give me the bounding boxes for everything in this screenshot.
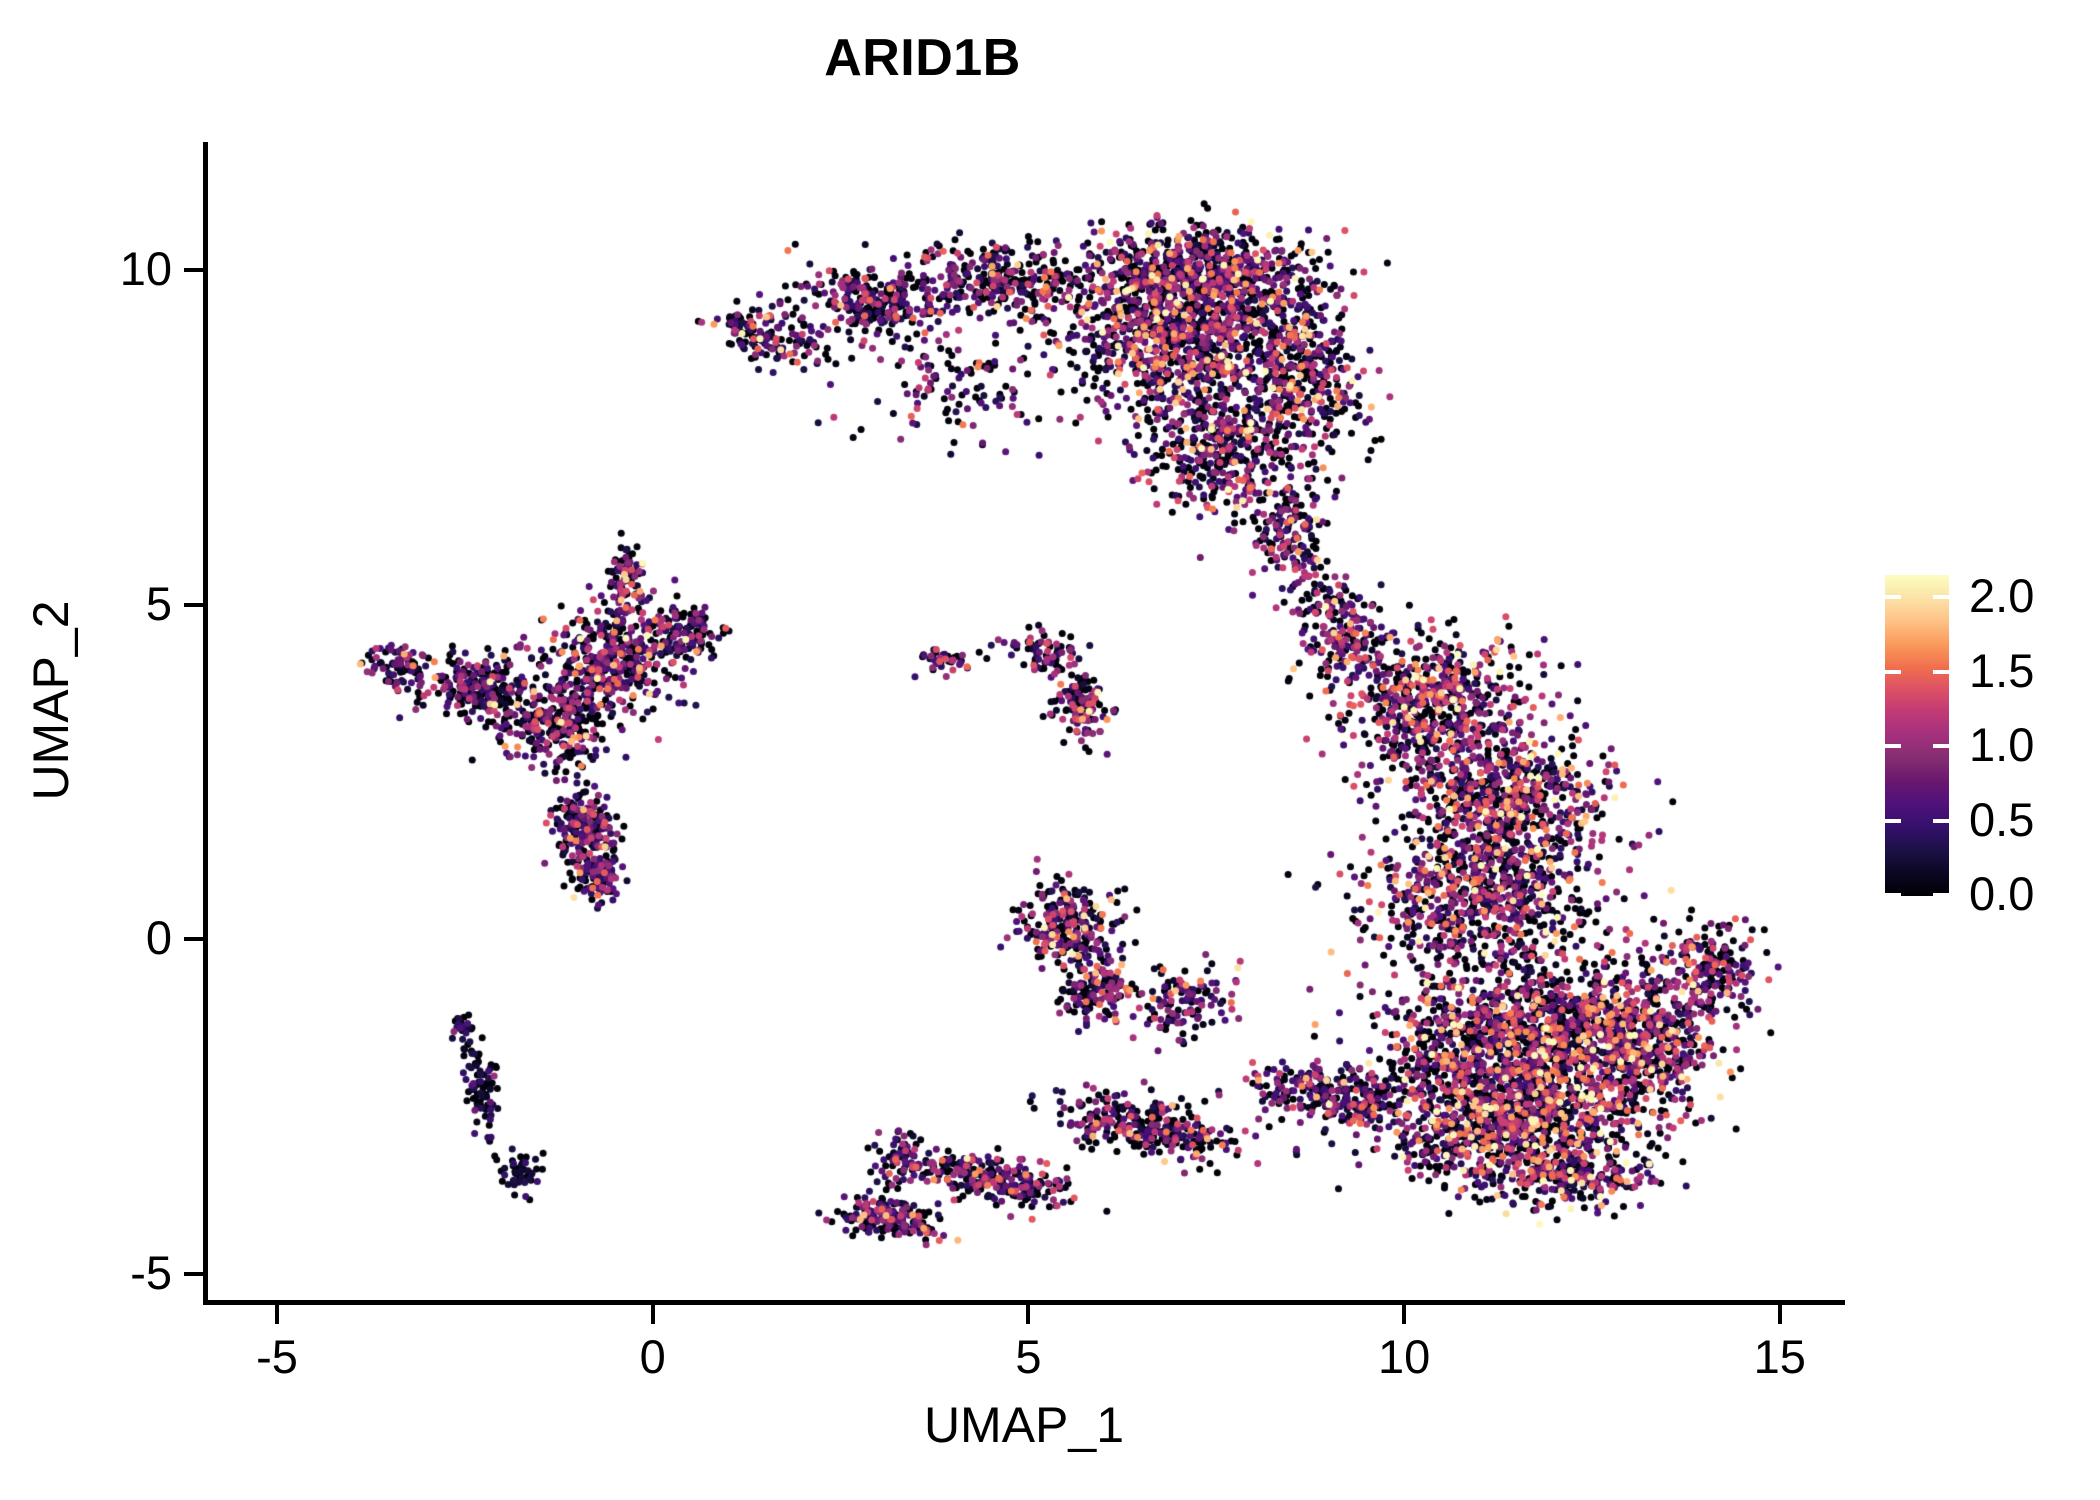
x-tick-label: 15 — [1700, 1331, 1860, 1383]
colorbar-tick-mark — [1933, 595, 1949, 599]
x-tick-label: 5 — [948, 1331, 1108, 1383]
y-axis-line — [203, 142, 208, 1305]
colorbar-tick-label: 0.0 — [1969, 868, 2034, 920]
colorbar-tick-label: 1.0 — [1969, 719, 2034, 771]
x-tick-mark — [1778, 1305, 1782, 1324]
x-tick-label: 10 — [1324, 1331, 1484, 1383]
colorbar-tick-mark — [1885, 819, 1901, 823]
page-title: ARID1B — [0, 32, 1845, 84]
y-tick-mark — [184, 603, 203, 607]
y-tick-mark — [184, 1272, 203, 1276]
umap-feature-plot: ARID1B -5051015 -50510 UMAP_1 UMAP_2 0.0… — [0, 0, 2100, 1500]
y-tick-mark — [184, 937, 203, 941]
colorbar-tick-mark — [1885, 744, 1901, 748]
x-axis-line — [203, 1300, 1845, 1305]
colorbar-gradient — [1885, 575, 1949, 896]
x-tick-label: 0 — [573, 1331, 733, 1383]
y-axis-title: UMAP_2 — [24, 119, 79, 1282]
colorbar-tick-mark — [1933, 744, 1949, 748]
color-legend: 0.00.51.01.52.0 — [1885, 575, 2095, 905]
colorbar-tick-mark — [1933, 670, 1949, 674]
x-tick-label: -5 — [197, 1331, 357, 1383]
scatter-plot-canvas — [205, 142, 1845, 1302]
colorbar-tick-mark — [1933, 819, 1949, 823]
colorbar-tick-mark — [1885, 670, 1901, 674]
colorbar-tick-label: 0.5 — [1969, 794, 2034, 846]
colorbar-tick-mark — [1933, 893, 1949, 897]
x-tick-mark — [275, 1305, 279, 1324]
y-tick-mark — [184, 268, 203, 272]
x-tick-mark — [1026, 1305, 1030, 1324]
x-tick-mark — [651, 1305, 655, 1324]
colorbar-tick-label: 2.0 — [1969, 570, 2034, 622]
colorbar-tick-mark — [1885, 595, 1901, 599]
colorbar-tick-mark — [1885, 893, 1901, 897]
colorbar-tick-label: 1.5 — [1969, 645, 2034, 697]
x-axis-title: UMAP_1 — [203, 1398, 1845, 1453]
x-tick-mark — [1402, 1305, 1406, 1324]
